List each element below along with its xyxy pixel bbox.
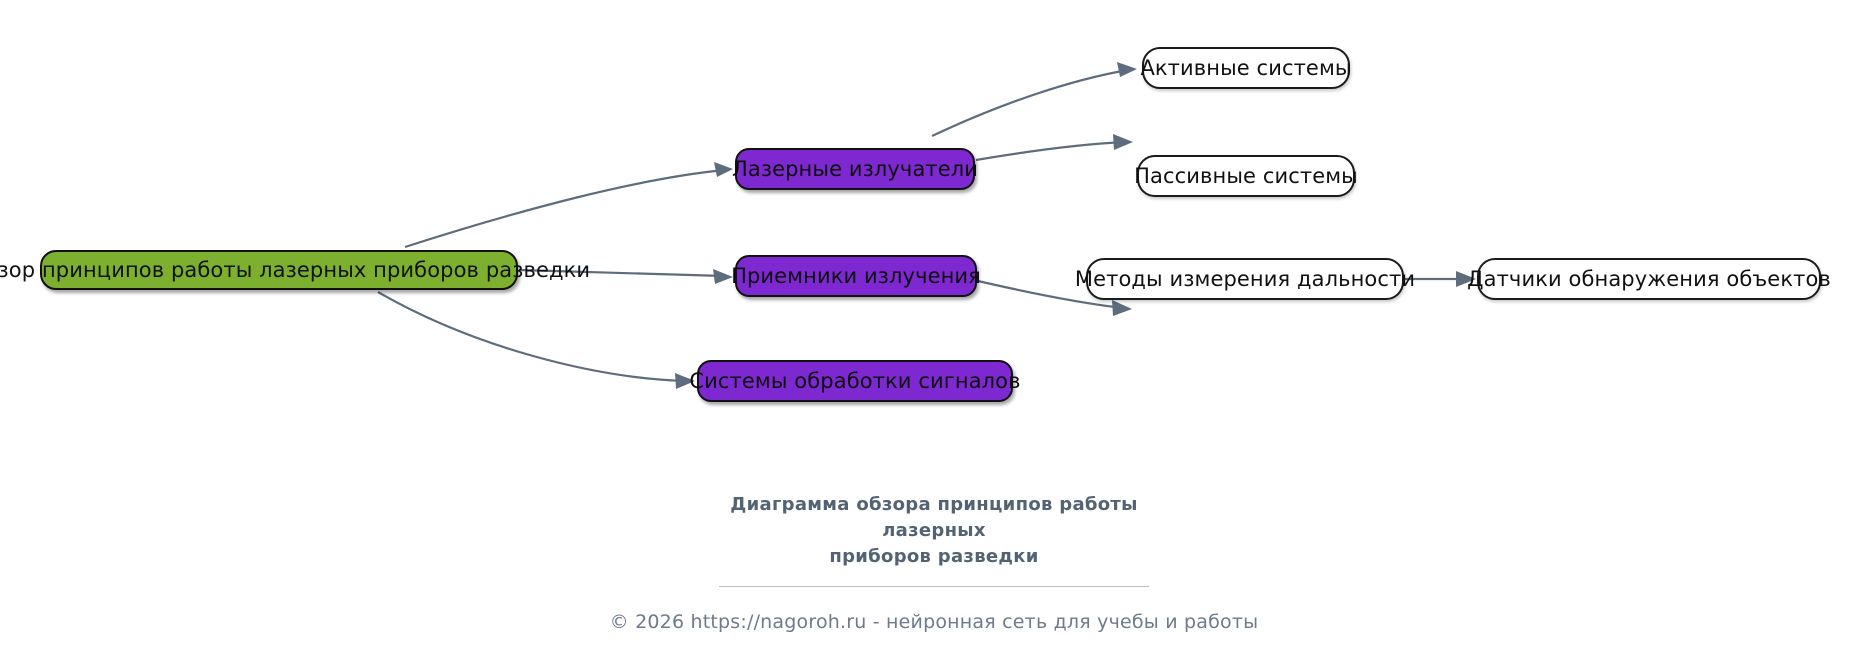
node-label: Обзор принципов работы лазерных приборов… xyxy=(0,260,590,281)
node-object-detection-sensors[interactable]: Датчики обнаружения объектов xyxy=(1477,258,1821,300)
edge-laser-emitters-to-passive-systems xyxy=(976,134,1133,160)
node-active-systems[interactable]: Активные системы xyxy=(1142,47,1350,89)
diagram-canvas: Обзор принципов работы лазерных приборов… xyxy=(0,0,1868,668)
node-label: Лазерные излучатели xyxy=(732,159,978,180)
edge-range-methods-to-detection-sensors xyxy=(1405,271,1476,287)
node-laser-emitters[interactable]: Лазерные излучатели xyxy=(735,148,975,190)
edge-root-to-signal-processing xyxy=(378,292,695,389)
node-label: Активные системы xyxy=(1140,58,1351,79)
node-passive-systems[interactable]: Пассивные системы xyxy=(1137,155,1355,197)
node-label: Датчики обнаружения объектов xyxy=(1467,269,1831,290)
caption-block: Диаграмма обзора принципов работы лазерн… xyxy=(0,492,1868,633)
footer-copyright: © 2026 https://nagoroh.ru - нейронная се… xyxy=(0,611,1868,633)
caption-line-1: Диаграмма обзора принципов работы лазерн… xyxy=(730,494,1137,541)
node-label: Системы обработки сигналов xyxy=(689,371,1020,392)
caption-divider xyxy=(719,586,1149,587)
node-label: Методы измерения дальности xyxy=(1075,269,1415,290)
node-radiation-receivers[interactable]: Приемники излучения xyxy=(735,255,977,297)
node-root-overview[interactable]: Обзор принципов работы лазерных приборов… xyxy=(40,250,518,290)
edge-laser-emitters-to-active-systems xyxy=(932,62,1137,136)
edge-root-to-laser-emitters xyxy=(405,162,733,247)
node-signal-processing[interactable]: Системы обработки сигналов xyxy=(697,360,1013,402)
diagram-caption-title: Диаграмма обзора принципов работы лазерн… xyxy=(684,492,1184,570)
node-label: Приемники излучения xyxy=(731,266,981,287)
node-label: Пассивные системы xyxy=(1134,166,1358,187)
node-range-measurement-methods[interactable]: Методы измерения дальности xyxy=(1086,258,1404,300)
caption-line-2: приборов разведки xyxy=(829,546,1038,567)
